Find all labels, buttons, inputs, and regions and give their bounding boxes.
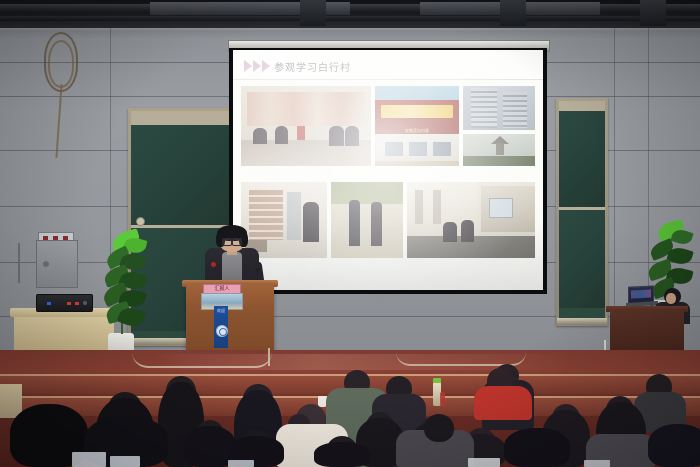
av-amplifier[interactable] — [36, 294, 93, 312]
lecture-hall-photo: 参观学习白行村 安徽蓝岛村委 — [0, 0, 700, 467]
eyeglasses-icon — [222, 238, 242, 244]
tile-seam — [614, 28, 615, 350]
stage-cable — [268, 348, 270, 366]
coiled-cable-inner — [48, 40, 74, 88]
operator-face — [666, 293, 676, 304]
slide-photo-library — [241, 182, 327, 258]
slide-photo-building-entrance — [407, 182, 535, 258]
notebook-page — [468, 458, 500, 467]
slide-photo-people-outdoors — [331, 182, 403, 258]
slide-divider — [233, 79, 543, 80]
podium-sign-label: 汇报人 — [204, 285, 240, 293]
potted-plant-left — [104, 232, 144, 337]
slide-photo-apartment — [463, 86, 535, 130]
chalkboard-right — [556, 98, 608, 326]
university-crest-icon — [216, 325, 228, 337]
ceiling-fixture — [300, 0, 326, 26]
lapel-badge — [211, 262, 216, 267]
slide-photo-pavilion — [463, 134, 535, 166]
ceiling-duct-lower — [0, 16, 700, 21]
ceiling-fixture — [640, 0, 666, 26]
notebook-page — [72, 452, 106, 467]
wall-conduit — [18, 243, 20, 283]
notebook-page — [228, 460, 254, 467]
slide-title: 参观学习白行村 — [274, 59, 351, 74]
stage-cable — [132, 352, 272, 368]
chalkboard-knob[interactable] — [136, 217, 145, 226]
projection-screen: 参观学习白行村 安徽蓝岛村委 — [233, 50, 543, 290]
chalk-ledge — [557, 318, 607, 324]
slide-footer — [233, 262, 543, 290]
microphone-icon[interactable] — [255, 268, 260, 273]
double-chevron-right-icon — [244, 60, 270, 72]
projected-slide: 参观学习白行村 安徽蓝岛村委 — [233, 50, 543, 290]
slide-photo-red-building: 安徽蓝岛村委 — [375, 86, 459, 166]
notebook-page — [110, 456, 140, 467]
bottle-label — [440, 392, 445, 406]
ceiling-fixture — [500, 0, 526, 26]
notebook-page — [584, 460, 610, 467]
wall-band — [0, 30, 700, 40]
bottle-cap — [433, 378, 441, 383]
slide-photo-meeting-room — [241, 86, 371, 166]
podium-banner-text: 欢迎 — [217, 309, 225, 313]
